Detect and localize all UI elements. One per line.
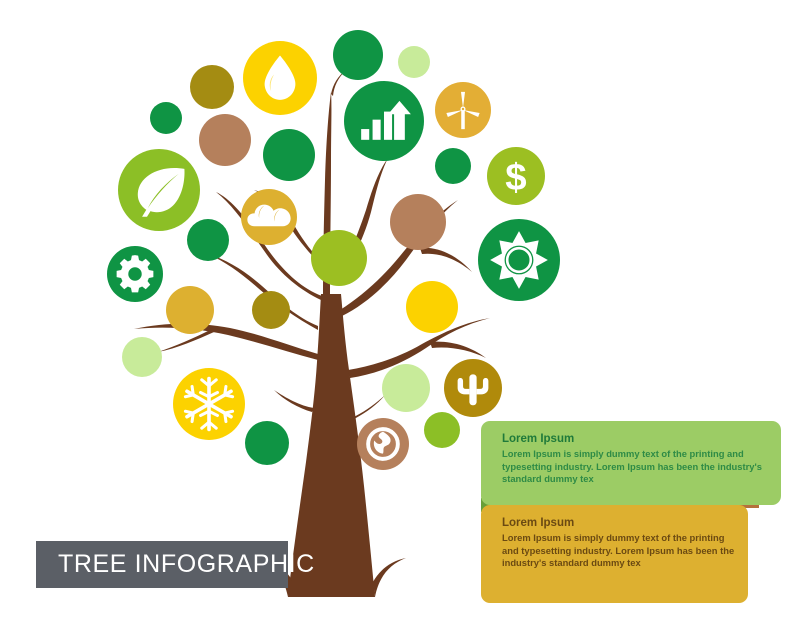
circle-pale-right[interactable] — [382, 364, 430, 412]
circle-green-top[interactable] — [333, 30, 383, 80]
callout-yellow-title: Lorem Ipsum — [502, 517, 574, 529]
circle-pale-left-disc — [122, 337, 162, 377]
circle-green-small-c-disc — [435, 148, 471, 184]
circle-cactus[interactable] — [444, 359, 502, 417]
circle-globe[interactable] — [357, 418, 409, 470]
circle-green-small-b-disc — [187, 219, 229, 261]
circle-green-lower[interactable] — [245, 421, 289, 465]
callout-green-body: Lorem Ipsum is simply dummy text of the … — [502, 448, 767, 486]
circle-sun[interactable] — [478, 219, 560, 301]
circle-olive-plain-disc — [190, 65, 234, 109]
circle-yellow-right-disc — [406, 281, 458, 333]
circle-brown-right-disc — [390, 194, 446, 250]
circle-dollar[interactable] — [487, 147, 545, 205]
circle-green-small-c[interactable] — [435, 148, 471, 184]
page-title: TREE INFOGRAPHIC — [58, 550, 315, 579]
circle-lime-lower[interactable] — [424, 412, 460, 448]
circle-green-small-a[interactable] — [150, 102, 182, 134]
circle-lime-lower-disc — [424, 412, 460, 448]
circle-pale-left[interactable] — [122, 337, 162, 377]
circle-lime-mid-disc — [311, 230, 367, 286]
circle-snowflake[interactable] — [173, 368, 245, 440]
circle-green-lower-disc — [245, 421, 289, 465]
circle-yellow-right[interactable] — [406, 281, 458, 333]
circle-pale-right-disc — [382, 364, 430, 412]
callout-green[interactable]: Lorem Ipsum Lorem Ipsum is simply dummy … — [481, 421, 781, 505]
circle-lime-mid[interactable] — [311, 230, 367, 286]
circle-olive-mid[interactable] — [252, 291, 290, 329]
callout-yellow-body: Lorem Ipsum is simply dummy text of the … — [502, 532, 737, 570]
callout-green-title: Lorem Ipsum — [502, 433, 574, 445]
circle-gear[interactable] — [107, 246, 163, 302]
circle-green-small-b[interactable] — [187, 219, 229, 261]
circle-leaf[interactable] — [118, 149, 200, 231]
circle-green-top-disc — [333, 30, 383, 80]
circle-green-mid-a-disc — [263, 129, 315, 181]
circle-brown-mid-disc — [199, 114, 251, 166]
circle-wind-turbine[interactable] — [435, 82, 491, 138]
title-banner: TREE INFOGRAPHIC — [36, 541, 288, 588]
circle-cloud[interactable] — [241, 189, 297, 245]
callout-yellow[interactable]: Lorem Ipsum Lorem Ipsum is simply dummy … — [481, 505, 748, 603]
infographic-canvas: $ — [0, 0, 800, 623]
circle-brown-right[interactable] — [390, 194, 446, 250]
circle-water-drop[interactable] — [243, 41, 317, 115]
circle-pale-top-disc — [398, 46, 430, 78]
circle-bar-chart[interactable] — [344, 81, 424, 161]
dollar-icon — [505, 156, 526, 199]
circle-gold-left-disc — [166, 286, 214, 334]
circle-green-small-a-disc — [150, 102, 182, 134]
circle-gold-left[interactable] — [166, 286, 214, 334]
circle-pale-top[interactable] — [398, 46, 430, 78]
circle-olive-plain[interactable] — [190, 65, 234, 109]
circle-green-mid-a[interactable] — [263, 129, 315, 181]
circle-olive-mid-disc — [252, 291, 290, 329]
circle-brown-mid[interactable] — [199, 114, 251, 166]
